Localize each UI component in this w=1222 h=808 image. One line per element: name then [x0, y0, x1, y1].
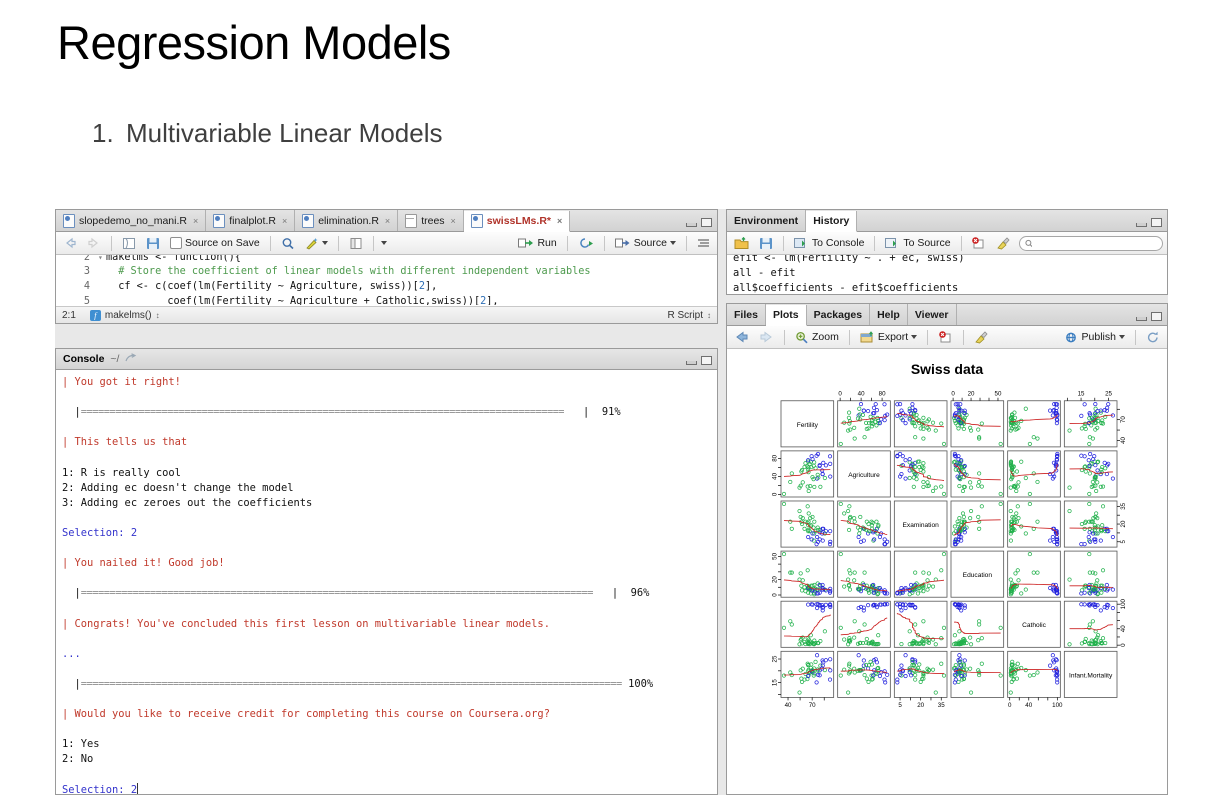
- history-tab-strip: Environment History: [727, 210, 1167, 232]
- tab-environment[interactable]: Environment: [727, 210, 806, 231]
- axis-tick-label: 20: [772, 576, 779, 583]
- tab-viewer[interactable]: Viewer: [908, 304, 957, 325]
- export-button[interactable]: Export: [857, 328, 920, 347]
- console-line: ...: [62, 647, 709, 662]
- plots-pane: Files Plots Packages Help Viewer Zoom: [726, 303, 1168, 795]
- diagonal-variable-label: Fertility: [797, 422, 819, 429]
- tab-label: Environment: [734, 215, 798, 227]
- minimize-icon[interactable]: [1136, 223, 1147, 227]
- scatter-cell: [1064, 451, 1117, 497]
- console-line: | Would you like to receive credit for c…: [62, 707, 709, 722]
- run-button[interactable]: Run: [515, 234, 559, 253]
- tab-label: History: [813, 215, 849, 227]
- scatter-cell: [1064, 551, 1117, 597]
- progress-bar-fill: ========================================…: [81, 405, 564, 420]
- chevron-down-icon[interactable]: [911, 335, 917, 339]
- scatter-cell: [951, 451, 1004, 497]
- axis: 040100: [1008, 697, 1063, 708]
- zoom-label: Zoom: [812, 331, 839, 343]
- console-header: Console ~/: [56, 349, 717, 370]
- close-icon[interactable]: ×: [282, 216, 287, 226]
- axis-tick-label: 40: [785, 702, 792, 709]
- run-label: Run: [537, 237, 556, 249]
- bullet-number: 1.: [92, 118, 126, 149]
- scatter-cell: [894, 451, 947, 497]
- document-type[interactable]: R Script: [667, 310, 703, 321]
- console-line: Selection: 2: [62, 526, 709, 541]
- close-icon[interactable]: ×: [193, 216, 198, 226]
- history-entry[interactable]: all$coefficients - efit$coefficients: [733, 281, 1161, 294]
- console-output[interactable]: | You got it right! |===================…: [56, 370, 717, 794]
- axis-tick-label: 20: [917, 702, 924, 709]
- plot-output-area: Swiss data FertilityAgricultureExaminati…: [727, 349, 1167, 794]
- source-editor-pane: slopedemo_no_mani.R × finalplot.R × elim…: [55, 209, 718, 324]
- axis-tick-label: 25: [1105, 390, 1112, 397]
- axis-tick-label: 40: [1120, 436, 1127, 443]
- page-title: Regression Models: [57, 14, 451, 72]
- tab-trees[interactable]: trees ×: [398, 210, 464, 231]
- scatter-cell: [781, 601, 834, 647]
- axis: 52035: [1117, 502, 1127, 543]
- list-item: 1. Multivariable Linear Models: [92, 118, 442, 149]
- tab-label: Plots: [773, 309, 799, 321]
- to-source-button[interactable]: To Source: [882, 234, 953, 253]
- axis: 4070: [785, 697, 825, 708]
- export-label: Export: [878, 331, 908, 343]
- to-source-label: To Source: [903, 237, 950, 249]
- axis-tick-label: 5: [1120, 539, 1127, 543]
- remove-entry-icon[interactable]: [968, 234, 989, 253]
- tab-label: Help: [877, 309, 900, 321]
- axis: 4070: [1117, 409, 1127, 444]
- axis: 02050: [772, 552, 781, 596]
- scatter-cell: [1064, 601, 1117, 647]
- scatter-cell: [894, 401, 947, 447]
- axis-tick-label: 15: [772, 679, 779, 686]
- outline-toggle-icon[interactable]: [694, 234, 713, 253]
- console-line: Selection: 2: [62, 783, 709, 794]
- console-line: | You got it right!: [62, 375, 709, 390]
- find-icon[interactable]: [278, 234, 298, 253]
- scatter-cell: Examination: [894, 501, 947, 547]
- search-input-field[interactable]: [1035, 237, 1157, 250]
- previous-plot-icon[interactable]: [731, 328, 752, 347]
- progress-percent: 96%: [631, 586, 650, 601]
- source-label: Source: [634, 237, 667, 249]
- console-blank-line: [62, 692, 709, 707]
- axis-tick-label: 0: [838, 390, 842, 397]
- maximize-icon[interactable]: [701, 218, 712, 227]
- tab-finalplot[interactable]: finalplot.R ×: [206, 210, 295, 231]
- tab-elimination[interactable]: elimination.R ×: [295, 210, 398, 231]
- publish-button[interactable]: Publish: [1061, 328, 1128, 347]
- code-line: 4 cf <- c(coef(lm(Fertility ~ Agricultur…: [56, 279, 717, 294]
- axis-tick-label: 15: [1078, 390, 1085, 397]
- axis-tick-label: 40: [772, 472, 779, 479]
- clear-all-plots-icon[interactable]: [971, 328, 992, 347]
- scatter-cell: [838, 551, 891, 597]
- function-icon: f: [90, 310, 101, 321]
- axis: 040100: [1117, 598, 1127, 646]
- scatter-cell: [894, 551, 947, 597]
- console-blank-line: [62, 511, 709, 526]
- minimize-icon[interactable]: [686, 361, 697, 365]
- console-title: Console: [63, 353, 104, 365]
- axis-tick-label: 0: [1120, 643, 1127, 647]
- minimize-icon[interactable]: [686, 223, 697, 227]
- axis-tick-label: 40: [1025, 702, 1032, 709]
- back-arrow-icon[interactable]: [60, 234, 80, 253]
- rerun-button[interactable]: [575, 234, 597, 253]
- r-script-icon: [471, 214, 483, 228]
- r-script-icon: [302, 214, 314, 228]
- axis-tick-label: 0: [772, 593, 779, 597]
- scatter-cell: [781, 451, 834, 497]
- show-document-outline-icon[interactable]: [119, 234, 139, 253]
- scatter-cell: [1008, 651, 1061, 697]
- line-number: 2: [56, 255, 98, 263]
- close-icon[interactable]: ×: [451, 216, 456, 226]
- data-grid-icon: [405, 214, 417, 228]
- code-line: 2 ▾ makelms <- function(){: [56, 255, 717, 265]
- history-toolbar: To Console To Source: [727, 232, 1167, 255]
- next-plot-icon[interactable]: [756, 328, 777, 347]
- scatter-cell: [838, 651, 891, 697]
- scatter-cell: [1008, 451, 1061, 497]
- tab-slopedemo[interactable]: slopedemo_no_mani.R ×: [56, 210, 206, 231]
- chevron-down-icon[interactable]: [322, 241, 328, 245]
- save-icon[interactable]: [143, 234, 163, 253]
- scatter-cell: [1008, 501, 1061, 547]
- axis-tick-label: 100: [1052, 702, 1063, 709]
- code-editor-content[interactable]: 2 ▾ makelms <- function(){ 3 # Store the…: [56, 255, 717, 305]
- axis-tick-label: 40: [1120, 625, 1127, 632]
- scatter-cell: [781, 651, 834, 697]
- tab-packages[interactable]: Packages: [807, 304, 870, 325]
- tab-label: Viewer: [915, 309, 949, 321]
- console-pane: Console ~/ | You got it right! |========…: [55, 348, 718, 795]
- source-button[interactable]: Source: [612, 234, 679, 253]
- chevron-updown-icon[interactable]: ↕: [156, 311, 160, 320]
- code-comment: # Store the coefficient of linear models…: [106, 266, 591, 277]
- text-cursor: [137, 783, 138, 794]
- clear-all-icon[interactable]: [993, 234, 1014, 253]
- checkbox-box: [170, 237, 182, 249]
- console-line: | You nailed it! Good job!: [62, 556, 709, 571]
- history-entry[interactable]: efit <- lm(Fertility ~ . + ec, swiss): [733, 255, 1161, 266]
- axis-tick-label: 0: [772, 492, 779, 496]
- scatter-cell: [1008, 551, 1061, 597]
- scatter-cell: [894, 651, 947, 697]
- tab-label: slopedemo_no_mani.R: [79, 215, 187, 227]
- code-text: makelms <- function(){: [106, 255, 241, 263]
- chevron-down-icon[interactable]: [381, 241, 387, 245]
- console-blank-line: [62, 662, 709, 677]
- source-toolbar: Source on Save Run: [56, 232, 717, 255]
- close-icon[interactable]: ×: [385, 216, 390, 226]
- code-text: coef(lm(Fertility ~ Agriculture + Cathol…: [106, 296, 480, 305]
- tab-label: Files: [734, 309, 758, 321]
- axis-tick-label: 80: [879, 390, 886, 397]
- scatter-cell: [838, 501, 891, 547]
- console-blank-line: [62, 541, 709, 556]
- console-blank-line: [62, 390, 709, 405]
- code-scope[interactable]: makelms(): [105, 310, 152, 321]
- console-line: 2: No: [62, 752, 709, 767]
- axis-tick-label: 50: [772, 552, 779, 559]
- axis: 04080: [838, 390, 886, 400]
- scatter-cell: Education: [951, 551, 1004, 597]
- diagonal-variable-label: Education: [963, 572, 993, 579]
- scatter-cell: [781, 501, 834, 547]
- console-blank-line: [62, 722, 709, 737]
- console-line: | Congrats! You've concluded this first …: [62, 617, 709, 632]
- scatter-cell: [951, 601, 1004, 647]
- scatterplot-matrix: FertilityAgricultureExaminationEducation…: [727, 349, 1167, 794]
- tab-label: swissLMs.R*: [487, 215, 551, 227]
- source-on-save-label: Source on Save: [185, 237, 260, 249]
- progress-bar-line: |=======================================…: [62, 405, 709, 420]
- cursor-position: 2:1: [62, 310, 76, 321]
- history-pane: Environment History To Console: [726, 209, 1168, 295]
- console-blank-line: [62, 571, 709, 586]
- scatter-cell: Infant.Mortality: [1064, 651, 1117, 697]
- axis: 1525: [772, 655, 781, 694]
- axis-tick-label: 40: [858, 390, 865, 397]
- console-line: 2: Adding ec doesn't change the model: [62, 481, 709, 496]
- code-line: 3 # Store the coefficient of linear mode…: [56, 265, 717, 280]
- maximize-icon[interactable]: [1151, 312, 1162, 321]
- console-window-controls: [686, 356, 712, 365]
- slide-bullet-list: 1. Multivariable Linear Models: [92, 118, 442, 149]
- line-number: 4: [56, 281, 98, 292]
- axis-tick-label: 0: [1008, 702, 1012, 709]
- plots-window-controls: [1136, 312, 1162, 321]
- axis: 1525: [1067, 390, 1112, 400]
- axis: 52035: [898, 697, 945, 708]
- console-line: 3: Adding ec zeroes out the coefficients: [62, 496, 709, 511]
- progress-bar-fill: ========================================…: [81, 586, 593, 601]
- console-blank-line: [62, 767, 709, 782]
- axis-tick-label: 20: [968, 390, 975, 397]
- r-script-icon: [213, 214, 225, 228]
- axis-tick-label: 0: [951, 390, 955, 397]
- scatter-cell: [838, 401, 891, 447]
- diagonal-variable-label: Infant.Mortality: [1069, 672, 1113, 679]
- axis-tick-label: 5: [898, 702, 902, 709]
- remove-plot-icon[interactable]: [935, 328, 956, 347]
- axis-tick-label: 50: [995, 390, 1002, 397]
- tab-help[interactable]: Help: [870, 304, 908, 325]
- fold-arrow-icon[interactable]: ▾: [98, 255, 106, 262]
- progress-bar-end: |: [564, 405, 602, 420]
- scatter-cell: [951, 401, 1004, 447]
- tab-files[interactable]: Files: [727, 304, 766, 325]
- axis: 02050: [951, 390, 1002, 400]
- compile-report-icon[interactable]: [346, 234, 366, 253]
- chevron-updown-icon[interactable]: ↕: [707, 311, 711, 320]
- progress-bar-line: |=======================================…: [62, 677, 709, 692]
- progress-percent: 100%: [622, 677, 653, 692]
- axis-tick-label: 70: [809, 702, 816, 709]
- console-line: 1: Yes: [62, 737, 709, 752]
- axis-tick-label: 100: [1120, 598, 1127, 609]
- source-tab-strip: slopedemo_no_mani.R × finalplot.R × elim…: [56, 210, 717, 232]
- open-file-icon[interactable]: [731, 234, 752, 253]
- source-on-save-checkbox[interactable]: Source on Save: [167, 234, 263, 253]
- view-in-new-window-icon[interactable]: [125, 353, 137, 366]
- editor-status-bar: 2:1 f makelms() ↕ R Script ↕: [56, 306, 717, 323]
- maximize-icon[interactable]: [1151, 218, 1162, 227]
- scatter-cell: [894, 601, 947, 647]
- to-console-button[interactable]: To Console: [791, 234, 868, 253]
- history-entry-list[interactable]: efit <- lm(Fertility ~ . + ec, swiss)all…: [727, 255, 1167, 294]
- progress-bar-line: |=======================================…: [62, 586, 709, 601]
- line-number: 3: [56, 266, 98, 277]
- minimize-icon[interactable]: [1136, 317, 1147, 321]
- maximize-icon[interactable]: [701, 356, 712, 365]
- console-blank-line: [62, 420, 709, 435]
- chevron-down-icon[interactable]: [1119, 335, 1125, 339]
- code-tools-icon[interactable]: [302, 234, 331, 253]
- history-window-controls: [1136, 218, 1162, 227]
- console-blank-line: [62, 601, 709, 616]
- scatter-cell: [1064, 501, 1117, 547]
- scatter-cell: Fertility: [781, 401, 834, 447]
- code-text: ],: [486, 296, 498, 305]
- axis-tick-label: 35: [938, 702, 945, 709]
- tab-label: Packages: [814, 309, 862, 321]
- axis-tick-label: 25: [772, 655, 779, 662]
- progress-percent: 91%: [602, 405, 621, 420]
- save-icon[interactable]: [756, 234, 776, 253]
- rstudio-window: slopedemo_no_mani.R × finalplot.R × elim…: [55, 209, 1168, 795]
- diagonal-variable-label: Examination: [903, 522, 940, 529]
- code-text: cf <- c(coef(lm(Fertility ~ Agriculture,…: [106, 281, 419, 292]
- tab-swisslms[interactable]: swissLMs.R* ×: [464, 211, 570, 232]
- plots-tab-strip: Files Plots Packages Help Viewer: [727, 304, 1167, 326]
- refresh-icon[interactable]: [1143, 328, 1163, 347]
- axis-tick-label: 80: [772, 454, 779, 461]
- scatter-cell: Agriculture: [838, 451, 891, 497]
- chevron-down-icon[interactable]: [670, 241, 676, 245]
- source-window-controls: [686, 218, 712, 227]
- progress-bar-fill: ========================================…: [81, 677, 622, 692]
- tab-history[interactable]: History: [806, 211, 857, 232]
- tab-label: finalplot.R: [229, 215, 276, 227]
- line-number: 5: [56, 296, 98, 305]
- tab-label: trees: [421, 215, 444, 227]
- progress-bar-end: |: [593, 586, 631, 601]
- axis: 04080: [772, 454, 781, 496]
- console-line: | This tells us that: [62, 435, 709, 450]
- scatter-cell: [951, 651, 1004, 697]
- tab-plots[interactable]: Plots: [766, 305, 807, 326]
- scatter-cell: [1008, 401, 1061, 447]
- tab-label: elimination.R: [318, 215, 379, 227]
- r-script-icon: [63, 214, 75, 228]
- plots-toolbar: Zoom Export Publish: [727, 326, 1167, 349]
- diagonal-variable-label: Agriculture: [848, 472, 880, 479]
- code-line: 5 coef(lm(Fertility ~ Agriculture + Cath…: [56, 294, 717, 305]
- axis-tick-label: 35: [1120, 502, 1127, 509]
- scatter-cell: [1064, 401, 1117, 447]
- scatter-cell: [838, 601, 891, 647]
- publish-label: Publish: [1082, 331, 1116, 343]
- axis-tick-label: 20: [1120, 520, 1127, 527]
- scatter-cell: Catholic: [1008, 601, 1061, 647]
- scatter-cell: [951, 501, 1004, 547]
- bullet-text: Multivariable Linear Models: [126, 118, 442, 149]
- console-line: 1: R is really cool: [62, 466, 709, 481]
- console-working-directory[interactable]: ~/: [110, 353, 119, 365]
- zoom-button[interactable]: Zoom: [792, 328, 842, 347]
- close-icon[interactable]: ×: [557, 216, 562, 226]
- axis-tick-label: 70: [1120, 416, 1127, 423]
- to-console-label: To Console: [812, 237, 865, 249]
- forward-arrow-icon[interactable]: [84, 234, 104, 253]
- history-search-input[interactable]: [1019, 236, 1164, 251]
- scatter-cell: [781, 551, 834, 597]
- history-entry[interactable]: all - efit: [733, 266, 1161, 281]
- code-text: ],: [425, 281, 437, 292]
- console-blank-line: [62, 632, 709, 647]
- diagonal-variable-label: Catholic: [1022, 622, 1047, 629]
- console-blank-line: [62, 450, 709, 465]
